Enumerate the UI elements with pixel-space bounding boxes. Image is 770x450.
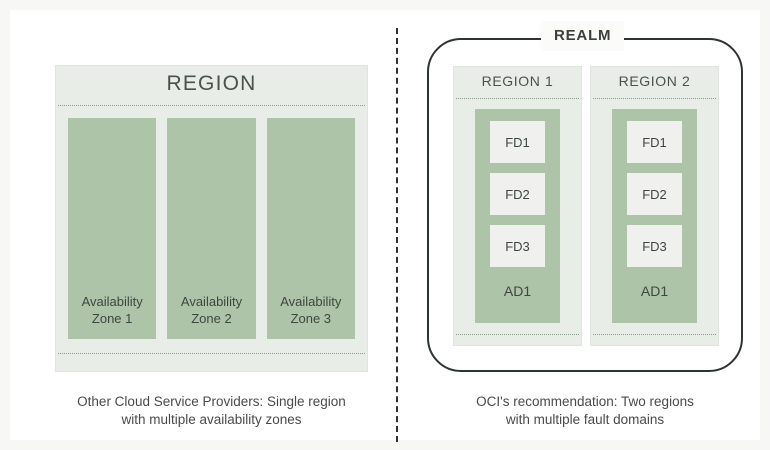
fault-domain-2-1: FD1 (627, 121, 682, 163)
fault-domain-1-1: FD1 (490, 121, 545, 163)
region-divider-top (58, 105, 365, 106)
availability-domain-1: FD1 FD2 FD3 AD1 (475, 109, 560, 323)
availability-domain-1-label: AD1 (504, 283, 531, 299)
realm-region-2: REGION 2 FD1 FD2 FD3 AD1 (590, 66, 719, 346)
diagram-canvas: REGION Availability Zone 1 Availability … (0, 0, 770, 450)
realm-region-1-divider-top (456, 98, 579, 99)
realm-label: REALM (541, 21, 624, 51)
region-container: REGION Availability Zone 1 Availability … (55, 65, 368, 372)
realm-region-1-title: REGION 1 (454, 73, 581, 89)
availability-zone-2-label: Availability Zone 2 (181, 293, 242, 327)
availability-zone-1: Availability Zone 1 (68, 118, 156, 339)
availability-domain-2-label: AD1 (641, 283, 668, 299)
region-title: REGION (56, 72, 367, 96)
fault-domain-2-2: FD2 (627, 173, 682, 215)
realm-region-2-divider-top (593, 98, 716, 99)
right-panel-caption: OCI's recommendation: Two regions with m… (427, 393, 743, 429)
fault-domain-1-2: FD2 (490, 173, 545, 215)
availability-zone-1-label: Availability Zone 1 (82, 293, 143, 327)
panel-divider (396, 28, 398, 442)
realm-region-1: REGION 1 FD1 FD2 FD3 AD1 (453, 66, 582, 346)
diagram-card: REGION Availability Zone 1 Availability … (10, 10, 760, 440)
availability-zone-row: Availability Zone 1 Availability Zone 2 … (68, 118, 355, 339)
region-divider-bottom (58, 353, 365, 354)
availability-zone-3-label: Availability Zone 3 (280, 293, 341, 327)
availability-zone-3: Availability Zone 3 (267, 118, 355, 339)
fault-domain-2-3: FD3 (627, 225, 682, 267)
realm-region-1-divider-bottom (456, 334, 579, 335)
availability-zone-2: Availability Zone 2 (167, 118, 255, 339)
realm-region-2-divider-bottom (593, 334, 716, 335)
availability-domain-2: FD1 FD2 FD3 AD1 (612, 109, 697, 323)
fault-domain-1-3: FD3 (490, 225, 545, 267)
left-panel-caption: Other Cloud Service Providers: Single re… (55, 393, 368, 429)
realm-region-2-title: REGION 2 (591, 73, 718, 89)
